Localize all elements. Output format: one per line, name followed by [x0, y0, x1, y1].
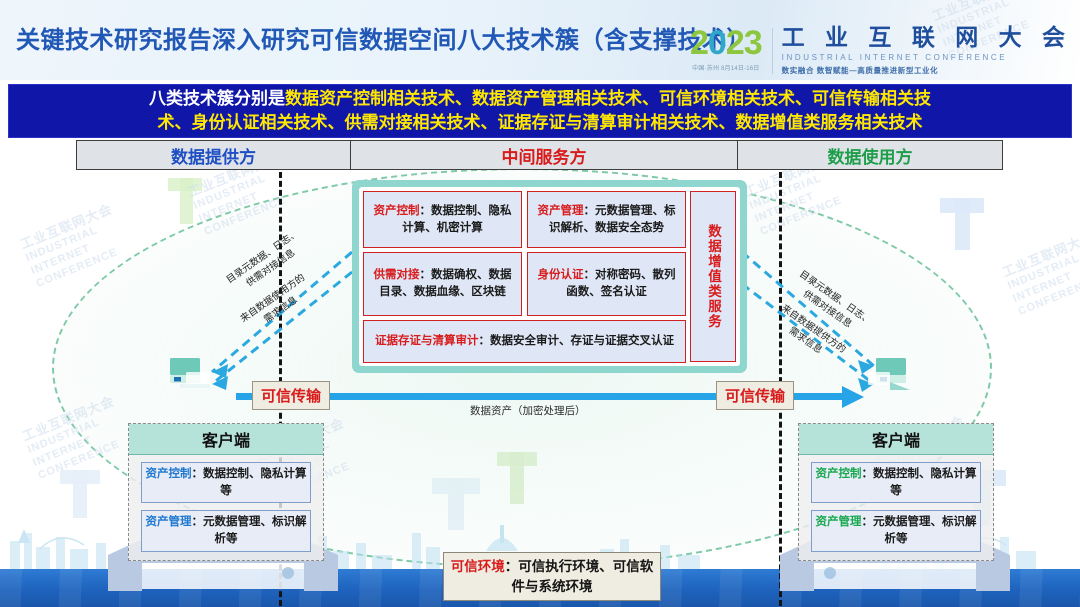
slide-root: 工业互联网大会 INDUSTRIAL INTERNET CONFERENCE 工… — [0, 0, 1080, 607]
client-box-left: 客户端 资产控制：数据控制、隐私计算等 资产管理：元数据管理、标识解析等 — [128, 423, 324, 561]
service-row-1: 资产控制：数据控制、隐私计算、机密计算 资产管理：元数据管理、标识解析、数据安全… — [363, 191, 686, 248]
service-asset-control[interactable]: 资产控制：数据控制、隐私计算、机密计算 — [363, 191, 522, 248]
service-supply-demand-key: 供需对接 — [374, 269, 420, 281]
client-right-item-0-value: 数据控制、隐私计算等 — [873, 468, 977, 497]
client-left-item-asset-management[interactable]: 资产管理：元数据管理、标识解析等 — [141, 510, 311, 551]
client-right-item-1-key: 资产管理 — [816, 516, 862, 528]
client-right-item-asset-control[interactable]: 资产控制：数据控制、隐私计算等 — [811, 462, 981, 503]
column-header-provider: 数据提供方 — [76, 140, 351, 170]
service-asset-control-sep: ： — [420, 205, 432, 217]
middle-services-grid: 资产控制：数据控制、隐私计算、机密计算 资产管理：元数据管理、标识解析、数据安全… — [363, 191, 686, 362]
trusted-transmission-right[interactable]: 可信传输 — [716, 381, 794, 410]
client-box-right: 客户端 资产控制：数据控制、隐私计算等 资产管理：元数据管理、标识解析等 — [798, 423, 994, 561]
watermark: 工业互联网大会 INDUSTRIAL INTERNET CONFERENCE — [18, 201, 130, 291]
banner-line-1: 八类技术簇分别是数据资产控制相关技术、数据资产管理相关技术、可信环境相关技术、可… — [149, 87, 931, 111]
service-asset-management-key: 资产管理 — [538, 205, 584, 217]
banner-line-1-highlight: 数据资产控制相关技术、数据资产管理相关技术、可信环境相关技术、可信传输相关技 — [285, 89, 931, 108]
middle-services-panel: 资产控制：数据控制、隐私计算、机密计算 资产管理：元数据管理、标识解析、数据安全… — [352, 180, 747, 373]
column-header-middle: 中间服务方 — [350, 140, 739, 170]
summary-banner: 八类技术簇分别是数据资产控制相关技术、数据资产管理相关技术、可信环境相关技术、可… — [8, 84, 1072, 138]
logo-text-block: 工 业 互 联 网 大 会 INDUSTRIAL INTERNET CONFER… — [782, 26, 1072, 76]
logo-name-cn: 工 业 互 联 网 大 会 — [782, 26, 1072, 49]
service-row-3: 证据存证与清算审计：数据安全审计、存证与证据交叉认证 — [363, 320, 686, 363]
service-identity-auth[interactable]: 身份认证：对称密码、散列函数、签名认证 — [527, 252, 686, 316]
banner-line-2-highlight: 术、身份认证相关技术、供需对接相关技术、证据存证与清算审计相关技术、数据增值类服… — [158, 113, 923, 132]
client-left-item-1-value: 元数据管理、标识解析等 — [203, 516, 307, 545]
service-row-2: 供需对接：数据确权、数据目录、数据血缘、区块链 身份认证：对称密码、散列函数、签… — [363, 252, 686, 316]
client-left-item-1-sep: ： — [192, 516, 204, 528]
logo-year-block: 2023 中国·苏州 8月14日-16日 — [690, 26, 772, 72]
trusted-environment-key: 可信环境 — [451, 559, 505, 574]
service-value-added[interactable]: 数据增值类服务 — [690, 191, 736, 362]
logo-name-en: INDUSTRIAL INTERNET CONFERENCE — [782, 53, 1072, 62]
trusted-environment-box[interactable]: 可信环境：可信执行环境、可信软件与系统环境 — [443, 552, 661, 601]
watermark: 工业互联网大会 INDUSTRIAL INTERNET CONFERENCE — [20, 393, 132, 483]
column-headers: 数据提供方 中间服务方 数据使用方 — [76, 140, 1004, 170]
conference-logo: 2023 中国·苏州 8月14日-16日 工 业 互 联 网 大 会 INDUS… — [690, 26, 1072, 76]
logo-date: 中国·苏州 8月14日-16日 — [690, 63, 762, 72]
device-icon-left — [168, 356, 212, 390]
data-asset-note: 数据资产（加密处理后） — [470, 403, 586, 418]
client-right-item-0-sep: ： — [862, 468, 874, 480]
client-left-item-0-key: 资产控制 — [146, 468, 192, 480]
service-evidence-audit-sep: ： — [479, 335, 491, 347]
service-asset-control-key: 资产控制 — [374, 205, 420, 217]
page-title: 关键技术研究报告深入研究可信数据空间八大技术簇（含支撑技术） — [16, 20, 751, 55]
client-right-item-1-value: 元数据管理、标识解析等 — [873, 516, 977, 545]
middle-services-inner: 资产控制：数据控制、隐私计算、机密计算 资产管理：元数据管理、标识解析、数据安全… — [359, 187, 740, 366]
client-right-item-1-sep: ： — [862, 516, 874, 528]
device-icon-right — [866, 356, 910, 390]
logo-divider — [772, 28, 773, 74]
transmission-arrow-head — [842, 386, 864, 408]
client-left-item-0-value: 数据控制、隐私计算等 — [203, 468, 307, 497]
client-left-item-1-key: 资产管理 — [146, 516, 192, 528]
service-evidence-audit-value: 数据安全审计、存证与证据交叉认证 — [490, 335, 674, 347]
watermark: 工业互联网大会 INDUSTRIAL INTERNET CONFERENCE — [1000, 229, 1080, 319]
trusted-environment-value: 可信执行环境、可信软件与系统环境 — [512, 559, 654, 594]
logo-year: 2023 — [690, 26, 762, 60]
banner-line-2: 术、身份认证相关技术、供需对接相关技术、证据存证与清算审计相关技术、数据增值类服… — [158, 111, 923, 135]
service-identity-auth-sep: ： — [584, 269, 596, 281]
service-asset-management-sep: ： — [584, 205, 596, 217]
logo-slogan: 数实融合 数智赋能—高质量推进新型工业化 — [782, 65, 1072, 76]
service-evidence-audit-key: 证据存证与清算审计 — [375, 335, 479, 347]
service-evidence-audit[interactable]: 证据存证与清算审计：数据安全审计、存证与证据交叉认证 — [363, 320, 686, 363]
service-asset-management[interactable]: 资产管理：元数据管理、标识解析、数据安全态势 — [527, 191, 686, 248]
trusted-environment-sep: ： — [505, 559, 519, 574]
client-left-title: 客户端 — [129, 424, 323, 455]
service-identity-auth-key: 身份认证 — [538, 269, 584, 281]
banner-line-1-prefix: 八类技术簇分别是 — [149, 89, 285, 108]
client-left-item-0-sep: ： — [192, 468, 204, 480]
client-right-item-0-key: 资产控制 — [816, 468, 862, 480]
service-supply-demand-sep: ： — [420, 269, 432, 281]
client-right-item-asset-management[interactable]: 资产管理：元数据管理、标识解析等 — [811, 510, 981, 551]
trusted-transmission-left[interactable]: 可信传输 — [252, 381, 330, 410]
column-header-user: 数据使用方 — [737, 140, 1003, 170]
client-right-title: 客户端 — [799, 424, 993, 455]
service-supply-demand[interactable]: 供需对接：数据确权、数据目录、数据血缘、区块链 — [363, 252, 522, 316]
client-left-item-asset-control[interactable]: 资产控制：数据控制、隐私计算等 — [141, 462, 311, 503]
